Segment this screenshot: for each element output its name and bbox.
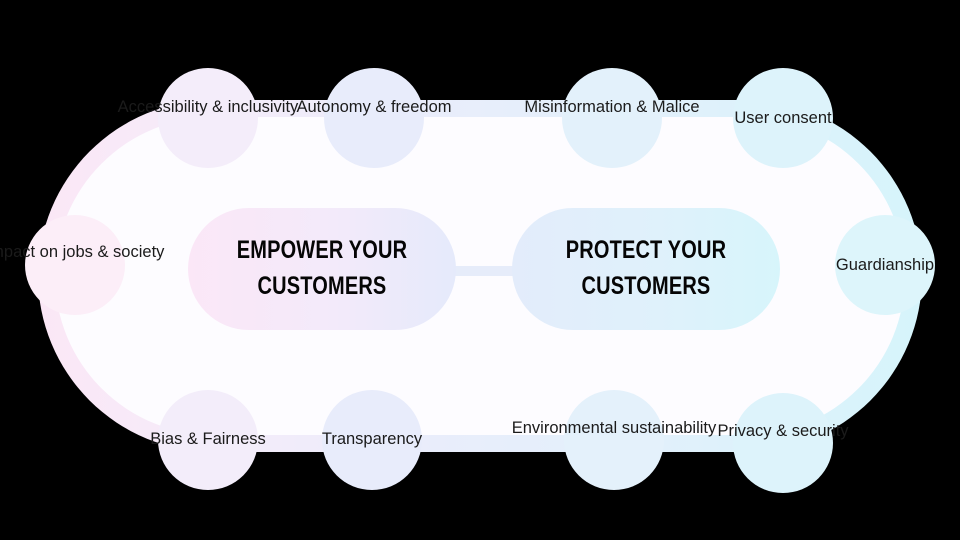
node-guardianship[interactable]	[835, 215, 935, 315]
node-accessibility[interactable]	[158, 68, 258, 168]
hub-protect-label: PROTECT YOUR CUSTOMERS	[539, 232, 753, 304]
node-autonomy[interactable]	[324, 68, 424, 168]
node-misinformation[interactable]	[562, 68, 662, 168]
node-transparency[interactable]	[322, 390, 422, 490]
node-privacy[interactable]	[733, 393, 833, 493]
diagram-graphics	[0, 0, 960, 540]
node-environmental[interactable]	[564, 390, 664, 490]
node-user-consent[interactable]	[733, 68, 833, 168]
node-impact-jobs[interactable]	[25, 215, 125, 315]
node-bias-fairness[interactable]	[158, 390, 258, 490]
hub-empower-label: EMPOWER YOUR CUSTOMERS	[215, 232, 429, 304]
diagram-canvas: EMPOWER YOUR CUSTOMERS PROTECT YOUR CUST…	[0, 0, 960, 540]
